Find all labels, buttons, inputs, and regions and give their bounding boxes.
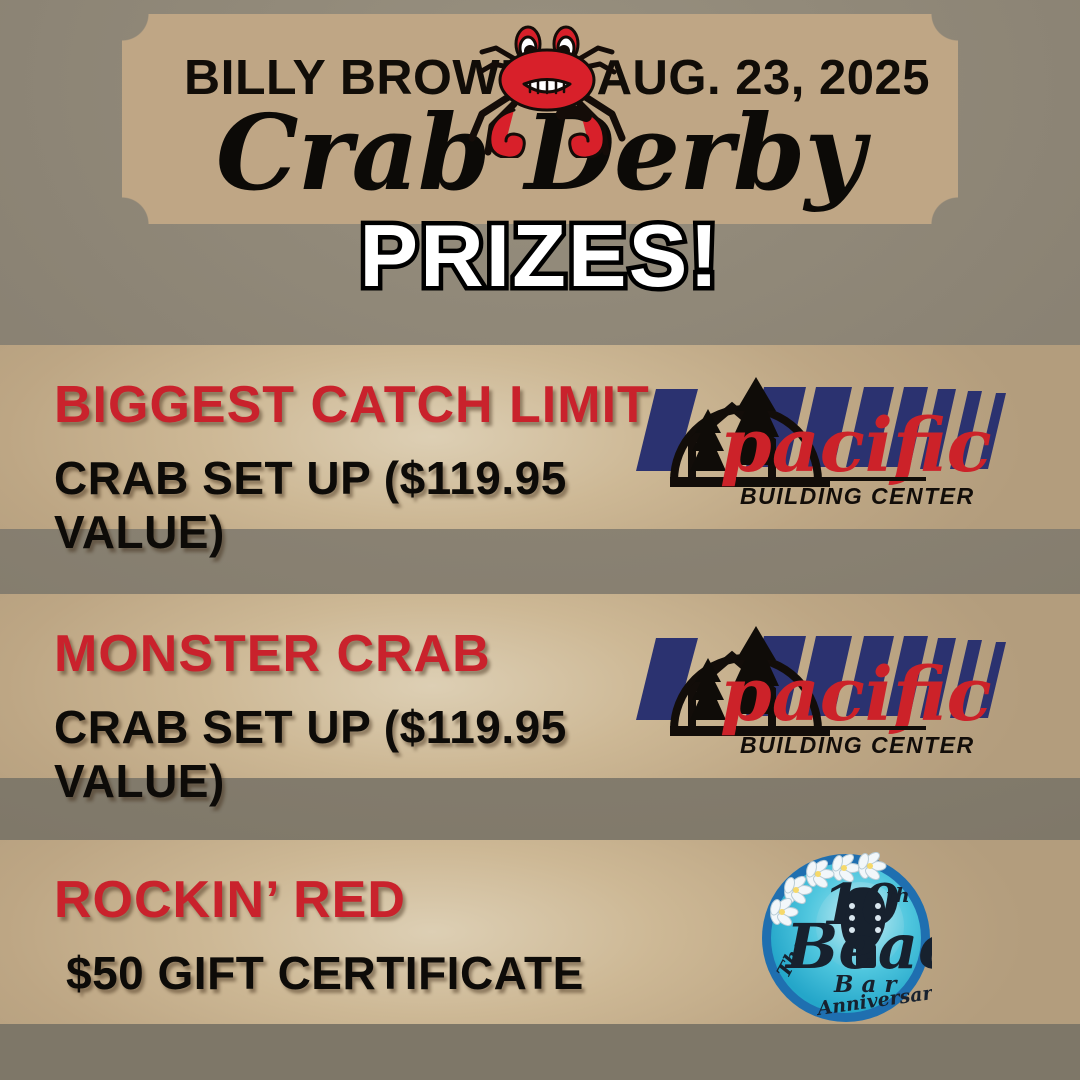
prize-title: ROCKIN’ RED	[54, 870, 406, 930]
beach-bar-ordinal: th	[886, 883, 910, 907]
pacific-building-center-logo: pacific BUILDING CENTER	[636, 359, 1036, 514]
sponsor-logo-slot: pacific BUILDING CENTER	[654, 594, 1054, 778]
prize-row: MONSTER CRAB CRAB SET UP ($119.95 VALUE)	[0, 594, 1080, 778]
prize-description: CRAB SET UP ($119.95 VALUE)	[54, 451, 668, 559]
sponsor-logo-slot: pacific BUILDING CENTER	[654, 345, 1054, 529]
prize-text-block: ROCKIN’ RED $50 GIFT CERTIFICATE	[48, 840, 668, 1024]
page-title: PRIZES!	[0, 212, 1080, 300]
prize-title: MONSTER CRAB	[54, 624, 491, 684]
sponsor-logo-slot: The Beach B a r Anniversary 10 th	[654, 840, 1054, 1024]
prize-title: BIGGEST CATCH LIMIT	[54, 375, 650, 435]
pacific-tagline: BUILDING CENTER	[740, 732, 975, 758]
pacific-wordmark: pacific	[720, 652, 992, 738]
prize-text-block: MONSTER CRAB CRAB SET UP ($119.95 VALUE)	[48, 594, 668, 778]
prize-description: CRAB SET UP ($119.95 VALUE)	[54, 700, 668, 808]
prize-poster: BILLY BROWN AUG. 23, 2025 Crab Derby	[0, 0, 1080, 1080]
prize-description: $50 GIFT CERTIFICATE	[66, 946, 584, 1000]
prize-text-block: BIGGEST CATCH LIMIT CRAB SET UP ($119.95…	[48, 345, 668, 529]
prize-row: BIGGEST CATCH LIMIT CRAB SET UP ($119.95…	[0, 345, 1080, 529]
beach-bar-anniversary-logo: The Beach B a r Anniversary 10 th	[760, 852, 932, 1024]
pacific-wordmark: pacific	[720, 403, 992, 489]
crab-mascot-icon	[462, 18, 632, 158]
pacific-building-center-logo: pacific BUILDING CENTER	[636, 608, 1036, 763]
prize-row: ROCKIN’ RED $50 GIFT CERTIFICATE	[0, 840, 1080, 1024]
pacific-tagline: BUILDING CENTER	[740, 483, 975, 509]
